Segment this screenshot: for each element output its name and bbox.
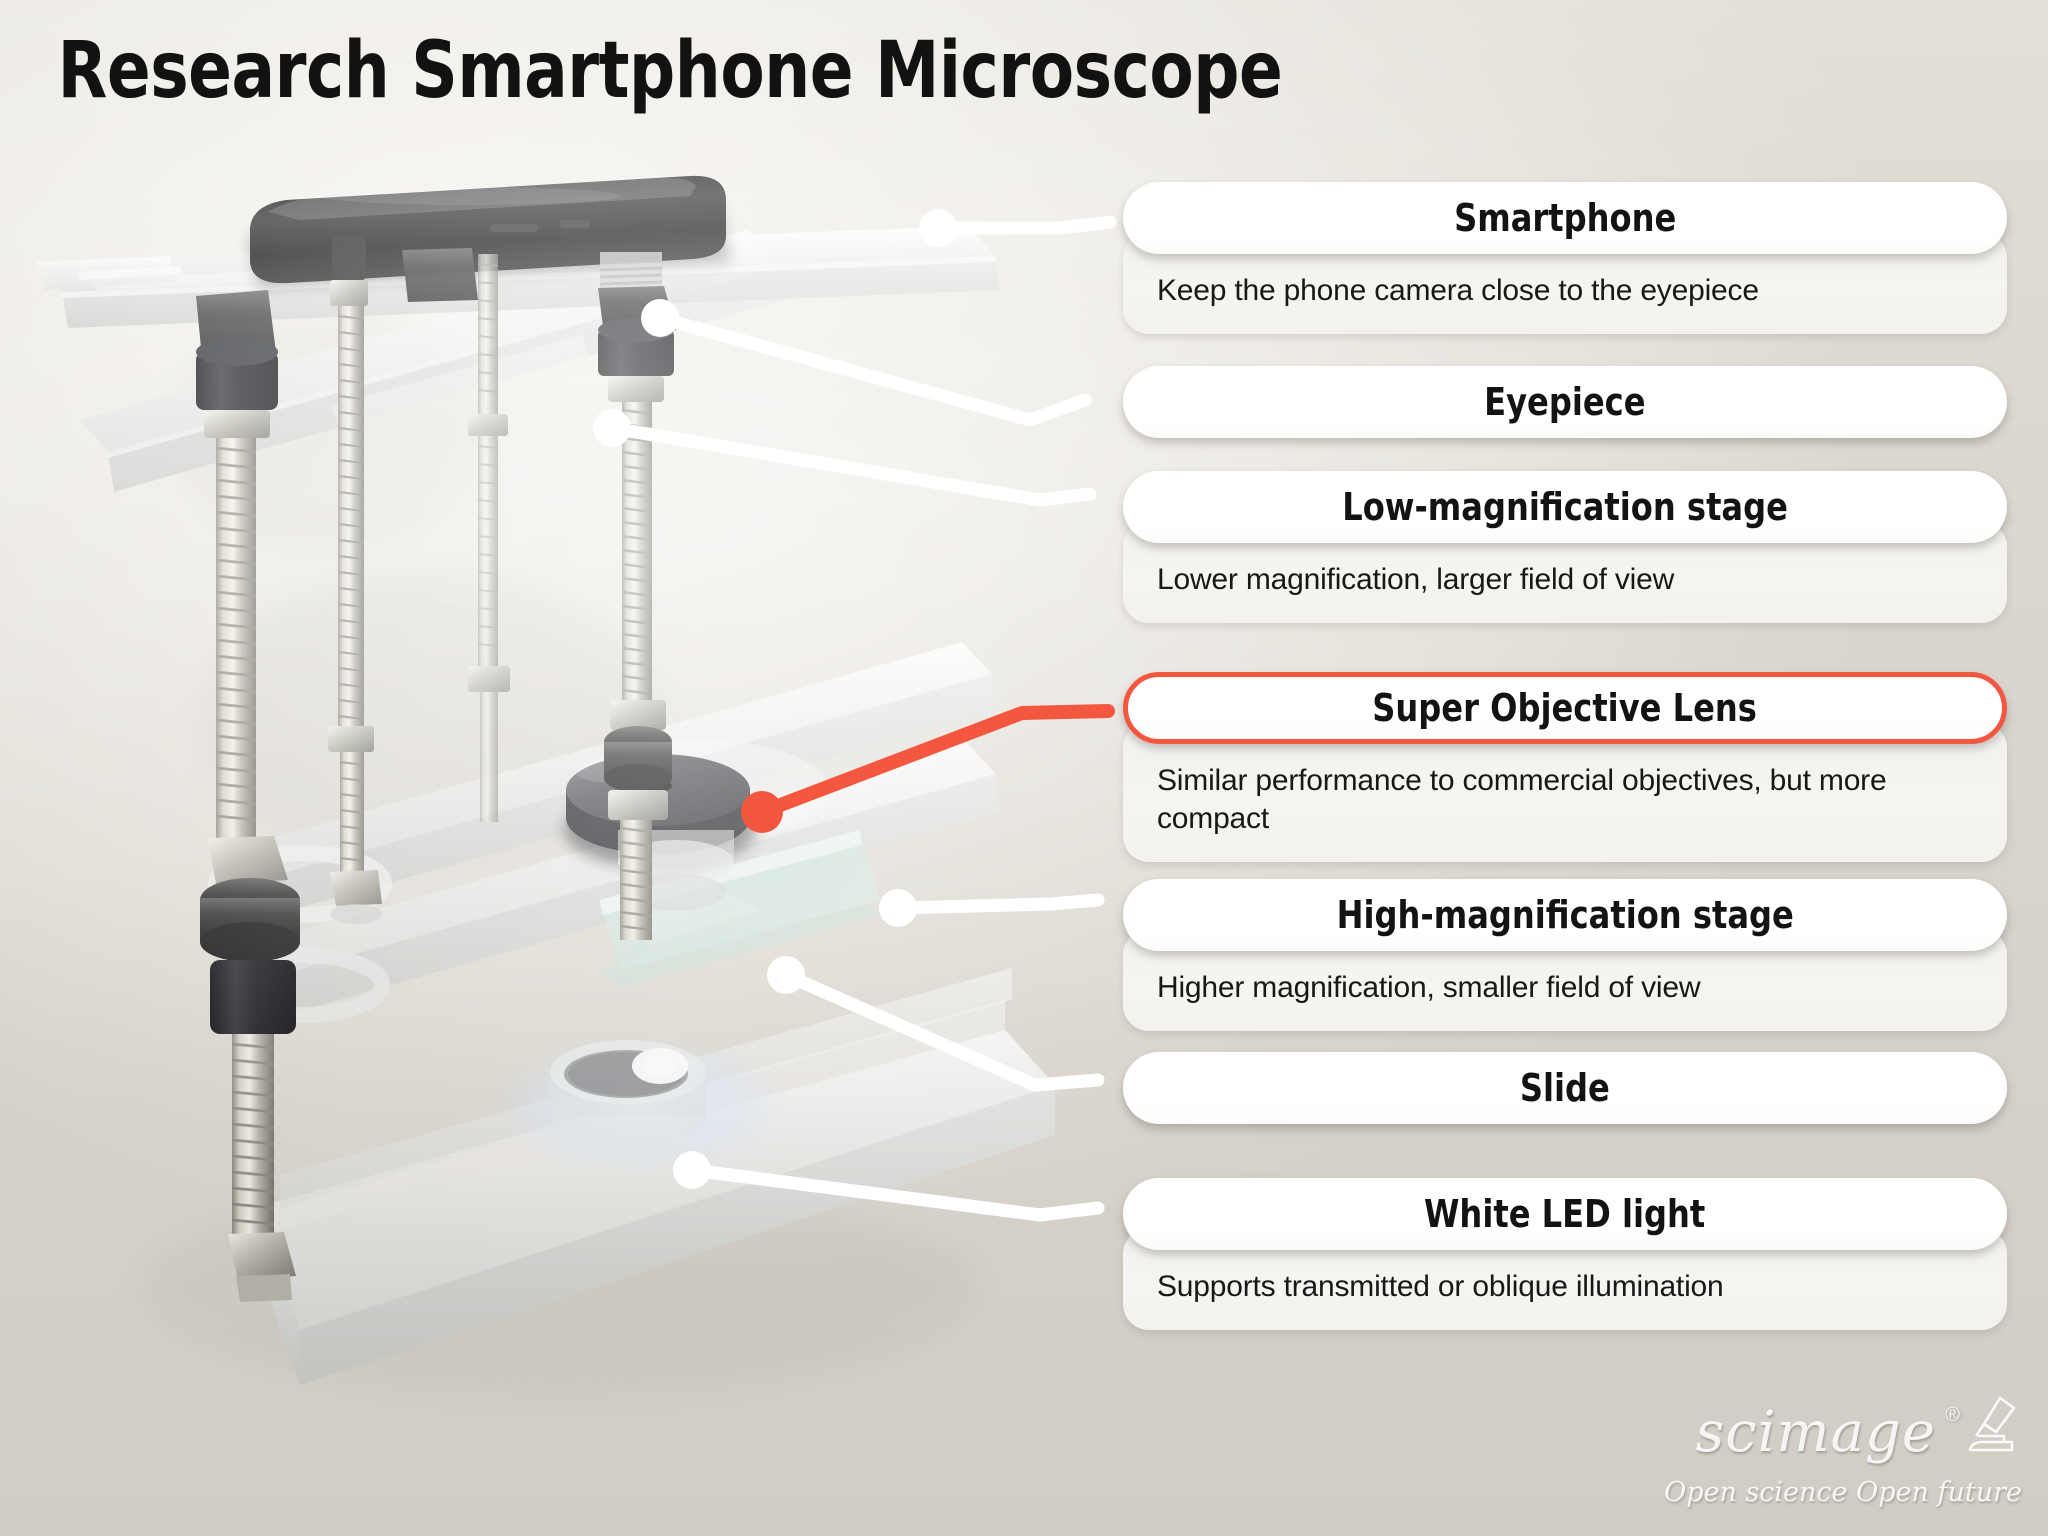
annotation-title-eyepiece[interactable]: Eyepiece bbox=[1123, 366, 2007, 438]
annotation-eyepiece[interactable]: Eyepiece bbox=[1123, 366, 2007, 438]
annotation-subtitle-text: Similar performance to commercial object… bbox=[1157, 762, 1973, 838]
annotation-high-magnification-stage[interactable]: High-magnification stage Higher magnific… bbox=[1123, 879, 2007, 1031]
annotation-title-text: White LED light bbox=[1424, 1192, 1705, 1236]
page-title: Research Smartphone Microscope bbox=[54, 26, 1287, 116]
annotation-subtitle-text: Lower magnification, larger field of vie… bbox=[1157, 561, 1973, 599]
annotation-subtitle-text: Higher magnification, smaller field of v… bbox=[1157, 969, 1973, 1007]
annotation-title-super-objective-lens[interactable]: Super Objective Lens bbox=[1123, 672, 2007, 744]
annotation-slide[interactable]: Slide bbox=[1123, 1052, 2007, 1124]
annotation-title-text: Low-magnification stage bbox=[1342, 485, 1788, 529]
annotation-title-low-magnification-stage[interactable]: Low-magnification stage bbox=[1123, 471, 2007, 543]
microscope-photo bbox=[0, 0, 1160, 1536]
annotation-smartphone[interactable]: Smartphone Keep the phone camera close t… bbox=[1123, 182, 2007, 334]
annotation-title-slide[interactable]: Slide bbox=[1123, 1052, 2007, 1124]
annotation-list: Smartphone Keep the phone camera close t… bbox=[1123, 0, 2048, 1536]
annotation-white-led-light[interactable]: White LED light Supports transmitted or … bbox=[1123, 1178, 2007, 1330]
annotation-title-smartphone[interactable]: Smartphone bbox=[1123, 182, 2007, 254]
infographic-canvas: Research Smartphone Microscope Smartphon… bbox=[0, 0, 2048, 1536]
annotation-subtitle-text: Keep the phone camera close to the eyepi… bbox=[1157, 272, 1973, 310]
annotation-low-magnification-stage[interactable]: Low-magnification stage Lower magnificat… bbox=[1123, 471, 2007, 623]
annotation-title-text: Smartphone bbox=[1454, 196, 1676, 240]
annotation-title-white-led-light[interactable]: White LED light bbox=[1123, 1178, 2007, 1250]
annotation-super-objective-lens[interactable]: Super Objective Lens Similar performance… bbox=[1123, 672, 2007, 862]
annotation-title-text: Slide bbox=[1520, 1066, 1610, 1110]
annotation-title-text: Eyepiece bbox=[1484, 380, 1645, 424]
white-led-light bbox=[490, 1035, 790, 1175]
annotation-title-high-magnification-stage[interactable]: High-magnification stage bbox=[1123, 879, 2007, 951]
annotation-title-text: Super Objective Lens bbox=[1373, 686, 1758, 730]
annotation-subtitle-text: Supports transmitted or oblique illumina… bbox=[1157, 1268, 1973, 1306]
annotation-title-text: High-magnification stage bbox=[1336, 893, 1793, 937]
